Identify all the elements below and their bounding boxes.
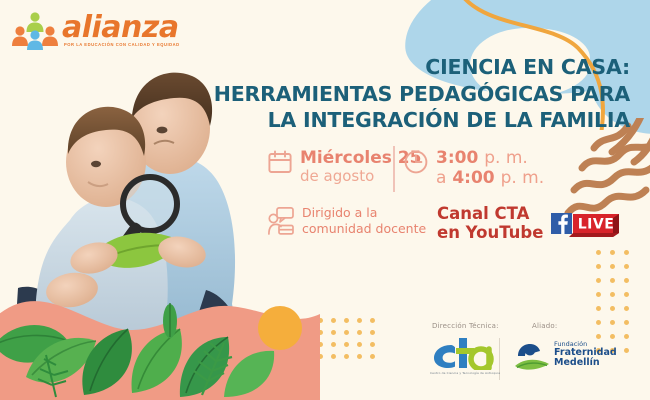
- promo-poster: alianza POR LA EDUCACIÓN CON CALIDAD Y E…: [0, 0, 650, 400]
- clock-icon: [404, 150, 428, 174]
- event-time: 3:00 p. m. a 4:00 p. m.: [404, 148, 544, 188]
- event-channel: Canal CTA en YouTube LIVE: [437, 204, 621, 243]
- teacher-speech-icon: [268, 207, 294, 235]
- event-time-start-suffix: p. m.: [484, 148, 528, 168]
- event-time-end: 4:00: [452, 168, 494, 188]
- audience-line-1: Dirigido a la: [302, 205, 426, 221]
- vertical-divider: [393, 146, 395, 192]
- fm-mark-icon: [512, 340, 552, 376]
- headline-line-3: LA INTEGRACIÓN DE LA FAMILIA: [190, 107, 630, 134]
- alianza-logo: alianza POR LA EDUCACIÓN CON CALIDAD Y E…: [12, 8, 192, 60]
- live-label: LIVE: [578, 217, 615, 233]
- channel-line-1: Canal CTA: [437, 204, 543, 223]
- headline-line-2: HERRAMIENTAS PEDAGÓGICAS PARA: [190, 81, 630, 108]
- technical-direction-label: Dirección Técnica:: [432, 322, 499, 330]
- logo-wordmark: alianza: [62, 10, 179, 45]
- channel-line-2: en YouTube: [437, 223, 543, 242]
- cta-logo: Centro de Ciencia y Tecnología de Antioq…: [429, 338, 495, 382]
- event-time-prefix: a: [436, 168, 446, 188]
- ally-label: Aliado:: [532, 322, 557, 330]
- fundacion-fraternidad-medellin-logo: Fundación Fraternidad Medellín: [512, 340, 604, 380]
- event-audience: Dirigido a la comunidad docente: [268, 205, 426, 238]
- headline-line-1: CIENCIA EN CASA:: [190, 54, 630, 81]
- page-title: CIENCIA EN CASA: HERRAMIENTAS PEDAGÓGICA…: [190, 54, 630, 134]
- tropical-leaves-decoration: [0, 285, 292, 400]
- cta-tagline: Centro de Ciencia y Tecnología de Antioq…: [430, 371, 500, 375]
- people-group-icon: [12, 10, 58, 54]
- event-time-end-suffix: p. m.: [501, 168, 545, 188]
- facebook-live-badge: LIVE: [549, 209, 621, 237]
- fm-line-3: Medellín: [554, 358, 617, 368]
- event-time-start: 3:00: [436, 148, 478, 168]
- audience-line-2: comunidad docente: [302, 221, 426, 237]
- dot-grid-bottom: [318, 318, 383, 366]
- calendar-icon: [268, 150, 292, 174]
- event-date: Miércoles 25 de agosto: [268, 148, 421, 186]
- logo-tagline: POR LA EDUCACIÓN CON CALIDAD Y EQUIDAD: [64, 42, 180, 47]
